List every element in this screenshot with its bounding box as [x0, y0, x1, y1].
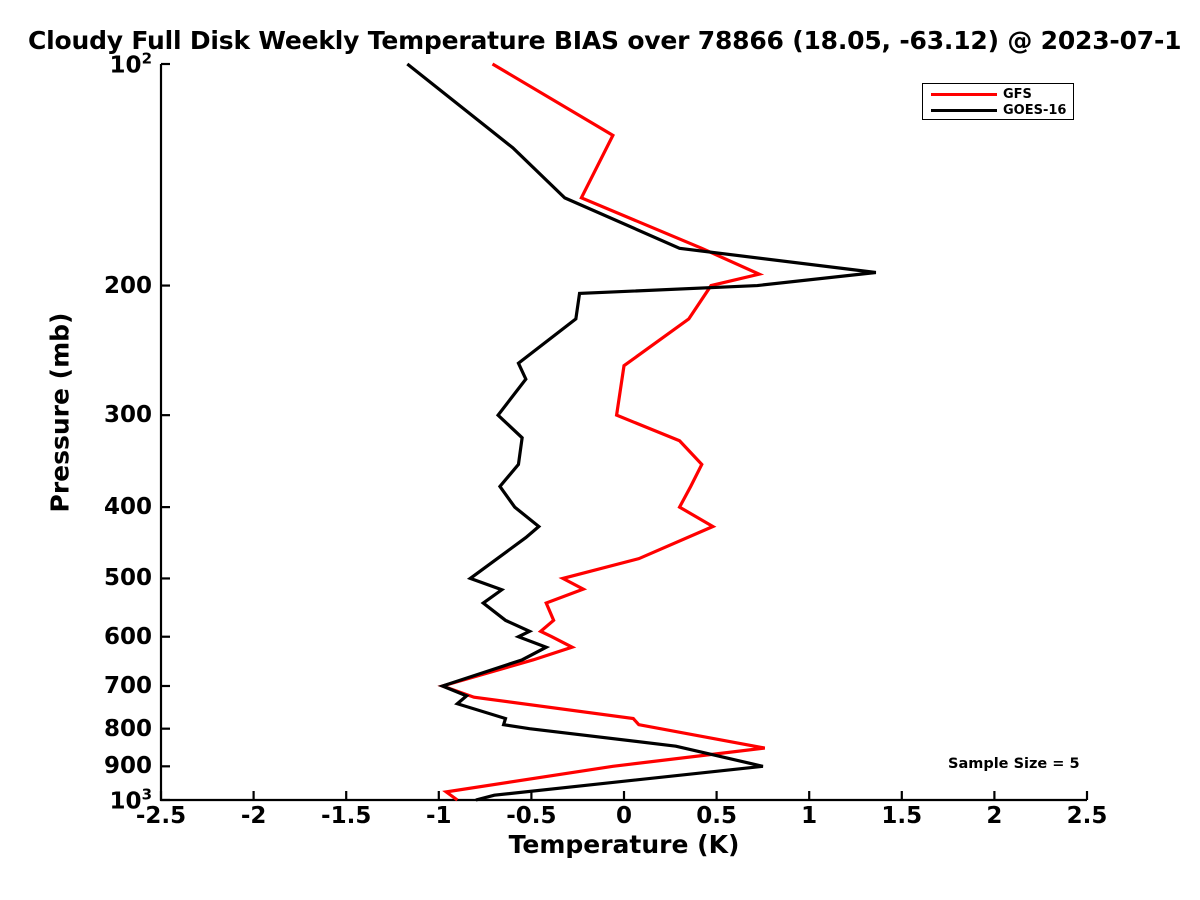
legend-swatch-goes16: [931, 109, 997, 112]
x-tick-label: 2: [986, 803, 1002, 829]
legend-swatch-gfs: [931, 93, 997, 96]
y-tick-label: 900: [62, 753, 152, 779]
y-axis-label: Pressure (mb): [46, 303, 75, 523]
x-tick-label: 0.5: [696, 803, 737, 829]
y-tick-label: 103: [62, 786, 152, 815]
x-tick-label: -0.5: [506, 803, 556, 829]
legend-entry-goes16: GOES-16: [923, 102, 1073, 118]
tick-marks: [161, 64, 1087, 800]
series-line-goes-16: [407, 64, 876, 800]
x-tick-label: 1.5: [881, 803, 922, 829]
chart-figure: Cloudy Full Disk Weekly Temperature BIAS…: [0, 0, 1200, 900]
chart-legend: GFS GOES-16: [922, 83, 1074, 120]
y-tick-label: 200: [62, 273, 152, 299]
x-tick-label: 1: [801, 803, 817, 829]
legend-label-gfs: GFS: [1003, 87, 1032, 102]
x-tick-label: 0: [616, 803, 632, 829]
y-tick-label: 500: [62, 565, 152, 591]
y-tick-label: 300: [62, 402, 152, 428]
x-tick-label: -1.5: [321, 803, 371, 829]
legend-entry-gfs: GFS: [923, 86, 1073, 102]
x-tick-label: 2.5: [1067, 803, 1108, 829]
axis-spines: [161, 64, 1087, 800]
y-tick-label: 700: [62, 673, 152, 699]
sample-size-annotation: Sample Size = 5: [948, 756, 1080, 772]
y-tick-label: 600: [62, 624, 152, 650]
x-axis-label: Temperature (K): [161, 830, 1087, 859]
x-tick-label: -2: [241, 803, 267, 829]
y-tick-label: 400: [62, 494, 152, 520]
y-tick-label: 102: [62, 50, 152, 79]
x-tick-label: -1: [426, 803, 452, 829]
y-tick-label: 800: [62, 716, 152, 742]
series-line-gfs: [443, 64, 765, 800]
legend-label-goes16: GOES-16: [1003, 103, 1066, 118]
